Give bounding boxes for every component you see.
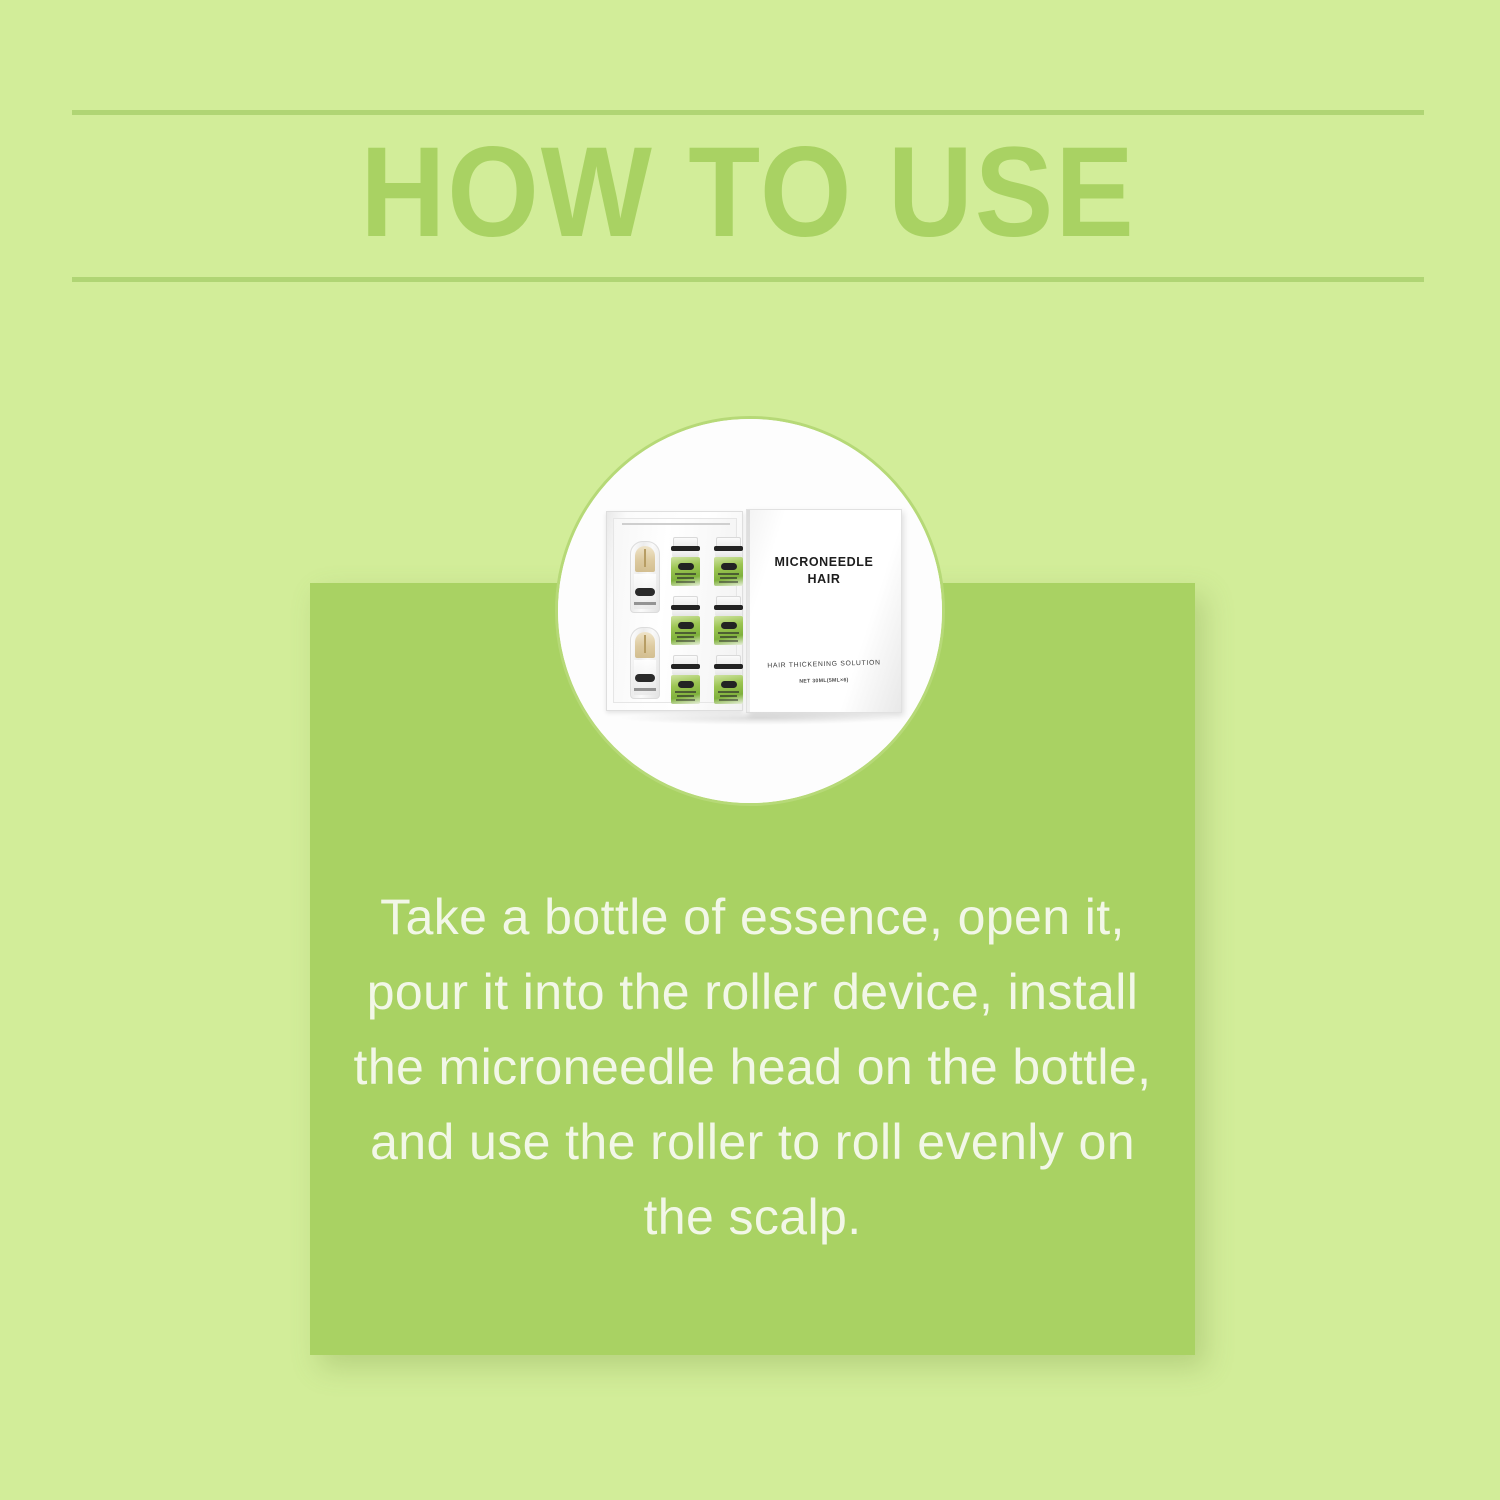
title-rule-bottom — [72, 277, 1424, 282]
essence-vial — [670, 596, 701, 646]
essence-vial — [670, 655, 701, 705]
essence-vial — [713, 537, 744, 587]
vial-label-line — [675, 573, 696, 575]
roller-label-line — [634, 688, 656, 691]
instruction-paragraph: Take a bottle of essence, open it, pour … — [310, 880, 1195, 1255]
essence-vial — [713, 596, 744, 646]
box-title-line1: MICRONEEDLE — [747, 554, 901, 571]
box-subtitle: HAIR THICKENING SOLUTION — [747, 659, 901, 670]
brand-logo-icon — [721, 622, 737, 629]
box-title: MICRONEEDLE HAIR — [747, 554, 901, 588]
product-photo: MICRONEEDLE HAIR HAIR THICKENING SOLUTIO… — [558, 419, 942, 803]
tray-edge-line — [622, 523, 730, 525]
vial-label-line — [719, 640, 738, 642]
vial-label — [714, 616, 743, 645]
vial-label-line — [720, 636, 737, 638]
brand-logo-icon — [678, 681, 694, 688]
essence-vial — [670, 537, 701, 587]
essence-vial — [713, 655, 744, 705]
box-title-line2: HAIR — [747, 571, 901, 588]
vial-neck — [673, 537, 698, 546]
box-net-content: NET 30ML(5ML×6) — [747, 676, 901, 686]
vial-label-line — [677, 695, 694, 697]
microneedle-head-icon — [644, 635, 646, 653]
vial-label-line — [677, 636, 694, 638]
roller-device — [630, 627, 660, 699]
product-box-lid: MICRONEEDLE HAIR HAIR THICKENING SOLUTIO… — [746, 509, 902, 713]
vial-label — [714, 557, 743, 586]
vial-label-line — [675, 632, 696, 634]
roller-device — [630, 541, 660, 613]
vial-label — [714, 675, 743, 704]
brand-logo-icon — [635, 674, 655, 682]
vial-label-line — [677, 577, 694, 579]
vial-label-line — [675, 691, 696, 693]
page-title: HOW TO USE — [126, 113, 1370, 273]
vial-label-line — [720, 695, 737, 697]
vial-label-line — [719, 699, 738, 701]
vial-neck — [716, 596, 741, 605]
brand-logo-icon — [721, 563, 737, 570]
vial-label-line — [718, 573, 739, 575]
product-shadow — [618, 711, 898, 725]
vial-grid — [670, 537, 744, 705]
brand-logo-icon — [678, 622, 694, 629]
vial-neck — [716, 655, 741, 664]
vial-label-line — [676, 640, 695, 642]
vial-neck — [673, 655, 698, 664]
microneedle-head-icon — [644, 549, 646, 567]
tray-inner — [613, 518, 737, 703]
header: HOW TO USE — [72, 105, 1424, 290]
vial-neck — [716, 537, 741, 546]
how-to-use-infographic: HOW TO USE Take a bottle of essence, ope… — [0, 0, 1500, 1500]
brand-logo-icon — [635, 588, 655, 596]
vial-label-line — [676, 699, 695, 701]
roller-label-line — [634, 602, 656, 605]
product-tray — [606, 511, 743, 711]
vial-neck — [673, 596, 698, 605]
vial-label-line — [676, 581, 695, 583]
brand-logo-icon — [721, 681, 737, 688]
vial-label-line — [718, 632, 739, 634]
product-photo-circle: MICRONEEDLE HAIR HAIR THICKENING SOLUTIO… — [555, 416, 945, 806]
product-box-open: MICRONEEDLE HAIR HAIR THICKENING SOLUTIO… — [606, 509, 902, 714]
vial-label-line — [720, 577, 737, 579]
vial-label — [671, 616, 700, 645]
vial-label-line — [719, 581, 738, 583]
vial-label — [671, 557, 700, 586]
vial-label — [671, 675, 700, 704]
brand-logo-icon — [678, 563, 694, 570]
vial-label-line — [718, 691, 739, 693]
